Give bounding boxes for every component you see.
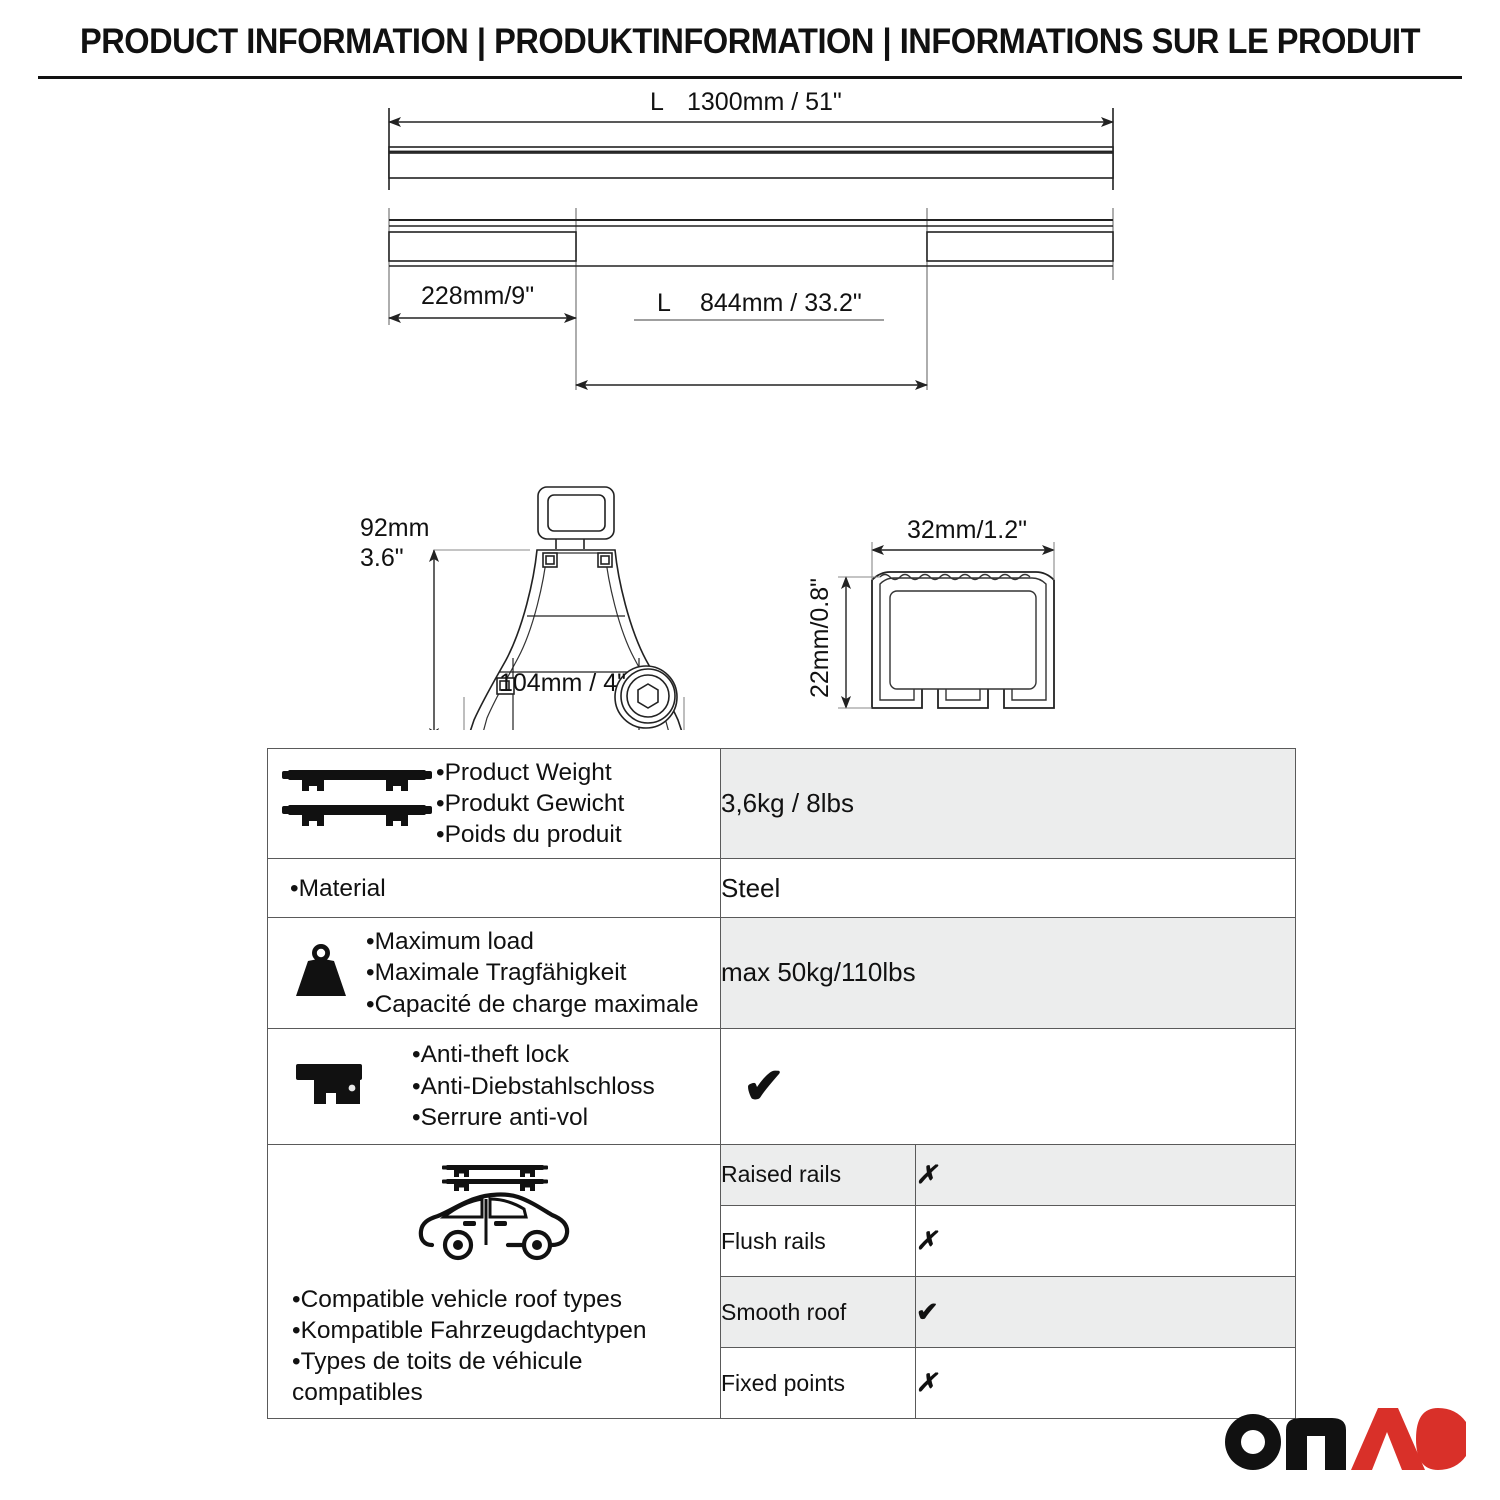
compat-row-label-raised-rails: Raised rails [721, 1144, 916, 1205]
compat-row-label-smooth-roof: Smooth roof [721, 1277, 916, 1348]
dim-profile-height: 22mm/0.8" [806, 578, 834, 698]
spec-label-cell-lock: •Anti-theft lock •Anti-Diebstahlschloss … [268, 1028, 721, 1144]
table-row: •Material Steel [268, 859, 1296, 918]
check-mark-icon: ✔ [721, 1061, 1295, 1111]
spec-label-cell-material: •Material [268, 859, 721, 918]
spec-labels-weight: •Product Weight •Produkt Gewicht •Poids … [436, 757, 624, 850]
lock-icon [294, 1056, 370, 1117]
compat-row-label-fixed-points: Fixed points [721, 1348, 916, 1419]
dim-span-value: 844mm / 33.2" [700, 289, 862, 317]
spec-value-material: Steel [721, 859, 1296, 918]
car-with-roof-rack-icon [410, 1159, 578, 1276]
logo-letter-a [1351, 1408, 1425, 1470]
spec-label-cell-maxload: •Maximum load •Maximale Tragfähigkeit •C… [268, 918, 721, 1028]
compat-row-mark-raised-rails: ✗ [916, 1144, 1296, 1205]
spec-label-cell-weight: •Product Weight •Produkt Gewicht •Poids … [268, 749, 721, 859]
page-title: PRODUCT INFORMATION | PRODUKTINFORMATION… [53, 22, 1448, 62]
compat-row-mark-flush-rails: ✗ [916, 1206, 1296, 1277]
dim-profile-width: 32mm/1.2" [907, 516, 1027, 544]
omac-logo [1220, 1406, 1468, 1472]
table-row: •Maximum load •Maximale Tragfähigkeit •C… [268, 918, 1296, 1028]
dim-foot-offset: 228mm/9" [421, 282, 534, 310]
table-row: •Product Weight •Produkt Gewicht •Poids … [268, 749, 1296, 859]
header-divider [38, 76, 1462, 79]
compatibility-label-cell: •Compatible vehicle roof types •Kompatib… [268, 1144, 721, 1418]
weight-icon [290, 941, 352, 1004]
dim-bar-length-prefix: L [650, 88, 664, 116]
spec-value-weight: 3,6kg / 8lbs [721, 749, 1296, 859]
product-spec-table: •Product Weight •Produkt Gewicht •Poids … [267, 748, 1296, 1419]
logo-letter-m [1286, 1418, 1346, 1470]
spec-value-lock: ✔ [721, 1028, 1296, 1144]
compat-row-mark-smooth-roof: ✔ [916, 1277, 1296, 1348]
technical-drawing: L 1300mm / 51" 228mm/9" L 844mm / 33.2" … [0, 80, 1500, 730]
compatibility-labels: •Compatible vehicle roof types •Kompatib… [278, 1284, 647, 1408]
spec-labels-maxload: •Maximum load •Maximale Tragfähigkeit •C… [366, 926, 699, 1019]
table-row: •Compatible vehicle roof types •Kompatib… [268, 1144, 1296, 1205]
dim-foot-height-line1: 92mm [360, 514, 429, 542]
compat-row-label-flush-rails: Flush rails [721, 1206, 916, 1277]
spec-labels-material: •Material [268, 865, 720, 912]
spec-value-maxload: max 50kg/110lbs [721, 918, 1296, 1028]
table-row: •Anti-theft lock •Anti-Diebstahlschloss … [268, 1028, 1296, 1144]
dim-foot-height-line2: 3.6" [360, 544, 404, 572]
crossbars-icon [282, 765, 432, 842]
dim-foot-width: 104mm / 4" [499, 669, 626, 697]
spec-labels-lock: •Anti-theft lock •Anti-Diebstahlschloss … [412, 1039, 655, 1132]
dim-bar-length-value: 1300mm / 51" [687, 88, 842, 116]
dim-span-prefix: L [657, 289, 671, 317]
logo-letter-c [1416, 1408, 1466, 1470]
